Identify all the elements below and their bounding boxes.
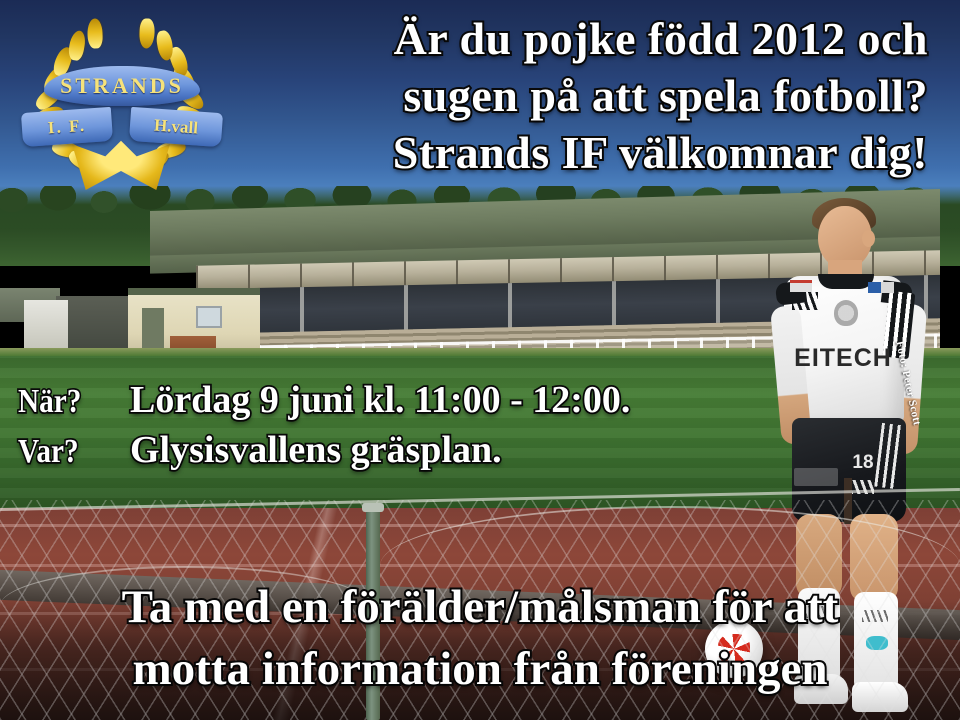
detail-question-when: När? <box>18 383 114 421</box>
detail-question-where: Var? <box>18 433 114 471</box>
jersey-badge-left <box>790 280 812 292</box>
headline-line-3: Strands IF välkomnar dig! <box>0 124 928 181</box>
poster-canvas: EITECH 18 <box>0 0 960 720</box>
club-crest-icon <box>834 300 858 326</box>
adidas-logo-icon <box>792 292 818 310</box>
jersey-sponsor-text: EITECH <box>788 344 898 374</box>
footer-note: Ta med en förälder/målsman för att motta… <box>0 576 960 700</box>
clubhouse-window <box>196 306 222 328</box>
detail-row-where: Var? Glysisvallens gräsplan. <box>18 428 798 472</box>
player-ear <box>862 230 875 247</box>
detail-answer-when: Lördag 9 juni kl. 11:00 - 12:00. <box>130 378 630 422</box>
headline-line-2: sugen på att spela fotboll? <box>0 67 928 124</box>
detail-answer-where: Glysisvallens gräsplan. <box>130 428 502 472</box>
footer-line-1: Ta med en förälder/målsman för att <box>0 576 960 638</box>
headline: Är du pojke född 2012 och sugen på att s… <box>0 10 960 181</box>
jersey-collar <box>818 274 874 289</box>
event-details: När? Lördag 9 juni kl. 11:00 - 12:00. Va… <box>18 378 798 478</box>
shorts-sponsor <box>794 468 838 486</box>
headline-line-1: Är du pojke född 2012 och <box>0 10 928 67</box>
footer-line-2: motta information från föreningen <box>0 638 960 700</box>
detail-row-when: När? Lördag 9 juni kl. 11:00 - 12:00. <box>18 378 798 422</box>
shorts-number: 18 <box>846 452 880 474</box>
fence-post-cap <box>362 503 384 512</box>
jersey-badge-right <box>868 282 894 293</box>
